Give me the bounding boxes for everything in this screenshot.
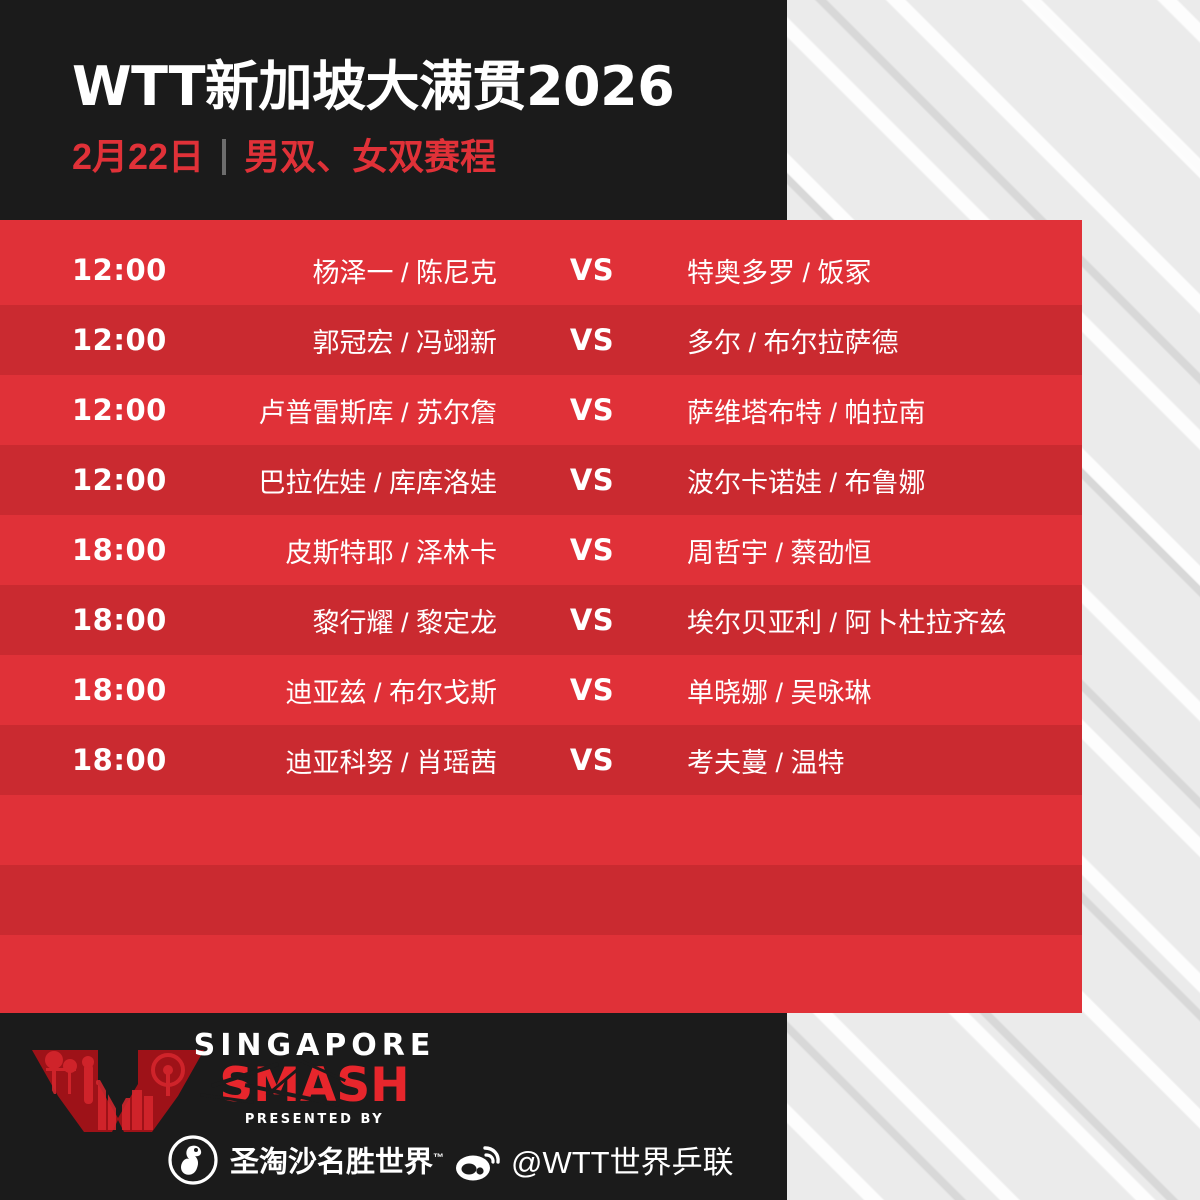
presented-by-label: PRESENTED BY	[192, 1112, 437, 1128]
match-row: 12:00巴拉佐娃 / 库库洛娃VS波尔卡诺娃 / 布鲁娜	[0, 445, 1082, 515]
match-team-right: 波尔卡诺娃 / 布鲁娜	[687, 461, 1067, 500]
match-team-left: 皮斯特耶 / 泽林卡	[197, 531, 497, 570]
match-vs-label: VS	[547, 393, 637, 427]
match-team-right: 埃尔贝亚利 / 阿卜杜拉齐兹	[687, 601, 1067, 640]
match-team-right: 考夫蔓 / 温特	[687, 741, 1067, 780]
smash-text: SMASH	[219, 1058, 409, 1113]
match-team-left: 郭冠宏 / 冯翊新	[197, 321, 497, 360]
match-team-right: 单晓娜 / 吴咏琳	[687, 671, 1067, 710]
singapore-smash-wordmark: SINGAPORE SMASH PRESENTED BY	[192, 1030, 437, 1128]
match-team-left: 迪亚兹 / 布尔戈斯	[197, 671, 497, 710]
match-team-left: 杨泽一 / 陈尼克	[197, 251, 497, 290]
smash-word-wrapper: SMASH	[192, 1063, 437, 1109]
subtitle-row: 2月22日 男双、女双赛程	[72, 134, 496, 180]
match-team-left: 迪亚科努 / 肖瑶茜	[197, 741, 497, 780]
match-row: 12:00郭冠宏 / 冯翊新VS多尔 / 布尔拉萨德	[0, 305, 1082, 375]
event-date: 2月22日	[72, 134, 204, 180]
sponsor-name: 圣淘沙名胜世界™	[230, 1142, 444, 1179]
merlion-circle-icon	[168, 1135, 218, 1185]
match-team-right: 萨维塔布特 / 帕拉南	[687, 391, 1067, 430]
header-panel: WTT新加坡大满贯2026 2月22日 男双、女双赛程	[0, 0, 787, 220]
match-row: 18:00迪亚兹 / 布尔戈斯VS单晓娜 / 吴咏琳	[0, 655, 1082, 725]
match-team-left: 卢普雷斯库 / 苏尔詹	[197, 391, 497, 430]
match-team-left: 巴拉佐娃 / 库库洛娃	[197, 461, 497, 500]
page-title: WTT新加坡大满贯2026	[72, 56, 674, 118]
match-team-right: 特奥多罗 / 饭冢	[687, 251, 1067, 290]
match-vs-label: VS	[547, 463, 637, 497]
match-row: 12:00杨泽一 / 陈尼克VS特奥多罗 / 饭冢	[0, 235, 1082, 305]
match-row: 12:00卢普雷斯库 / 苏尔詹VS萨维塔布特 / 帕拉南	[0, 375, 1082, 445]
sponsor-name-text: 圣淘沙名胜世界	[230, 1146, 433, 1178]
match-team-right: 多尔 / 布尔拉萨德	[687, 321, 1067, 360]
sponsor-trademark: ™	[433, 1152, 444, 1164]
sponsor-lockup: 圣淘沙名胜世界™	[168, 1134, 444, 1186]
poster-root: WTT新加坡大满贯2026 2月22日 男双、女双赛程 12:00杨泽一 / 陈…	[0, 0, 1200, 1200]
row-stripe	[0, 865, 1082, 935]
match-row: 18:00黎行耀 / 黎定龙VS埃尔贝亚利 / 阿卜杜拉齐兹	[0, 585, 1082, 655]
match-vs-label: VS	[547, 253, 637, 287]
weibo-lockup[interactable]: @WTT世界乒联	[455, 1140, 734, 1186]
match-vs-label: VS	[547, 533, 637, 567]
singapore-smash-w-icon	[28, 1040, 208, 1135]
match-team-right: 周哲宇 / 蔡劭恒	[687, 531, 1067, 570]
subtitle-divider	[222, 139, 226, 175]
match-vs-label: VS	[547, 673, 637, 707]
weibo-icon	[455, 1144, 501, 1182]
schedule-panel: 12:00杨泽一 / 陈尼克VS特奥多罗 / 饭冢12:00郭冠宏 / 冯翊新V…	[0, 220, 1082, 1013]
match-row: 18:00迪亚科努 / 肖瑶茜VS考夫蔓 / 温特	[0, 725, 1082, 795]
weibo-handle: @WTT世界乒联	[511, 1144, 734, 1182]
match-team-left: 黎行耀 / 黎定龙	[197, 601, 497, 640]
match-vs-label: VS	[547, 743, 637, 777]
match-vs-label: VS	[547, 323, 637, 357]
match-vs-label: VS	[547, 603, 637, 637]
event-category: 男双、女双赛程	[244, 134, 496, 180]
match-row: 18:00皮斯特耶 / 泽林卡VS周哲宇 / 蔡劭恒	[0, 515, 1082, 585]
